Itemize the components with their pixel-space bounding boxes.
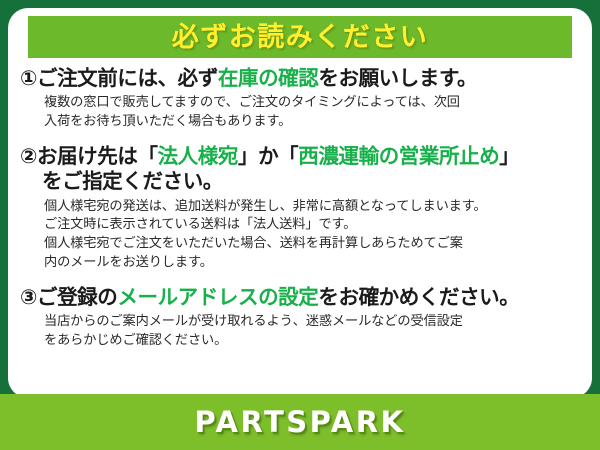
body-line: 複数の窓口で販売してますので、ご注文のタイミングによっては、次回 (44, 94, 582, 113)
notice-item-1-body: 複数の窓口で販売してますので、ご注文のタイミングによっては、次回 入荷をお待ち頂… (20, 94, 582, 131)
heading-text-plain: お届け先は (37, 144, 138, 168)
notice-item-3-heading: ③ご登録のメールアドレスの設定をお確かめください。 (20, 285, 582, 310)
body-line: 個人様宅宛でご注文をいただいた場合、送料を再計算しあらためてご案 (44, 235, 582, 254)
body-line: 内のメールをお送りします。 (44, 254, 582, 273)
heading-text-highlight: 在庫の確認 (218, 66, 319, 90)
body-line: ご注文時に表示されている送料は「法人送料」です。 (44, 216, 582, 235)
heading-text-highlight: メールアドレスの設定 (117, 285, 318, 309)
content-panel: 必ずお読みください ①ご注文前には、必ず在庫の確認をお願いします。 複数の窓口で… (8, 8, 592, 398)
notice-item-2: ②お届け先は「法人様宛」か「西濃運輸の営業所止め」 をご指定ください。 個人様宅… (20, 144, 582, 273)
heading-text-plain: をお願いします。 (318, 66, 477, 90)
notice-item-1: ①ご注文前には、必ず在庫の確認をお願いします。 複数の窓口で販売してますので、ご… (20, 66, 582, 132)
list-marker-2: ② (20, 144, 37, 168)
heading-text-plain: ご登録の (37, 285, 117, 309)
notice-item-2-heading: ②お届け先は「法人様宛」か「西濃運輸の営業所止め」 をご指定ください。 (20, 144, 582, 195)
body-line: 個人様宅宛の発送は、追加送料が発生し、非常に高額となってしまいます。 (44, 198, 582, 217)
heading-bracket-mid: 」か「 (238, 144, 298, 168)
heading-text-plain: をお確かめください。 (318, 285, 519, 309)
page-title: 必ずお読みください (172, 24, 429, 51)
brand-logo: PARTSPARK (194, 408, 405, 437)
notice-item-3-body: 当店からのご案内メールが受け取れるよう、迷惑メールなどの受信設定 をあらかじめご… (20, 313, 582, 350)
list-marker-1: ① (20, 66, 37, 90)
notice-item-2-body: 個人様宅宛の発送は、追加送料が発生し、非常に高額となってしまいます。 ご注文時に… (20, 198, 582, 273)
notice-item-3: ③ご登録のメールアドレスの設定をお確かめください。 当店からのご案内メールが受け… (20, 285, 582, 351)
heading-text-plain: ご注文前には、必ず (37, 66, 218, 90)
notice-banner: 必ずお読みください ①ご注文前には、必ず在庫の確認をお願いします。 複数の窓口で… (0, 0, 600, 450)
list-marker-3: ③ (20, 285, 37, 309)
notice-list: ①ご注文前には、必ず在庫の確認をお願いします。 複数の窓口で販売してますので、ご… (8, 66, 592, 357)
footer-band: PARTSPARK (0, 394, 600, 450)
body-line: 当店からのご案内メールが受け取れるよう、迷惑メールなどの受信設定 (44, 313, 582, 332)
notice-item-2-heading-line2: をご指定ください。 (20, 169, 582, 194)
heading-bracket-open: 「 (137, 144, 157, 168)
heading-text-highlight: 西濃運輸の営業所止め (298, 144, 499, 168)
body-line: をあらかじめご確認ください。 (44, 332, 582, 351)
heading-text-highlight: 法人様宛 (158, 144, 238, 168)
header-band: 必ずお読みください (28, 16, 572, 58)
heading-bracket-close: 」 (499, 144, 519, 168)
notice-item-1-heading: ①ご注文前には、必ず在庫の確認をお願いします。 (20, 66, 582, 91)
body-line: 入荷をお待ち頂いただく場合もあります。 (44, 113, 582, 132)
